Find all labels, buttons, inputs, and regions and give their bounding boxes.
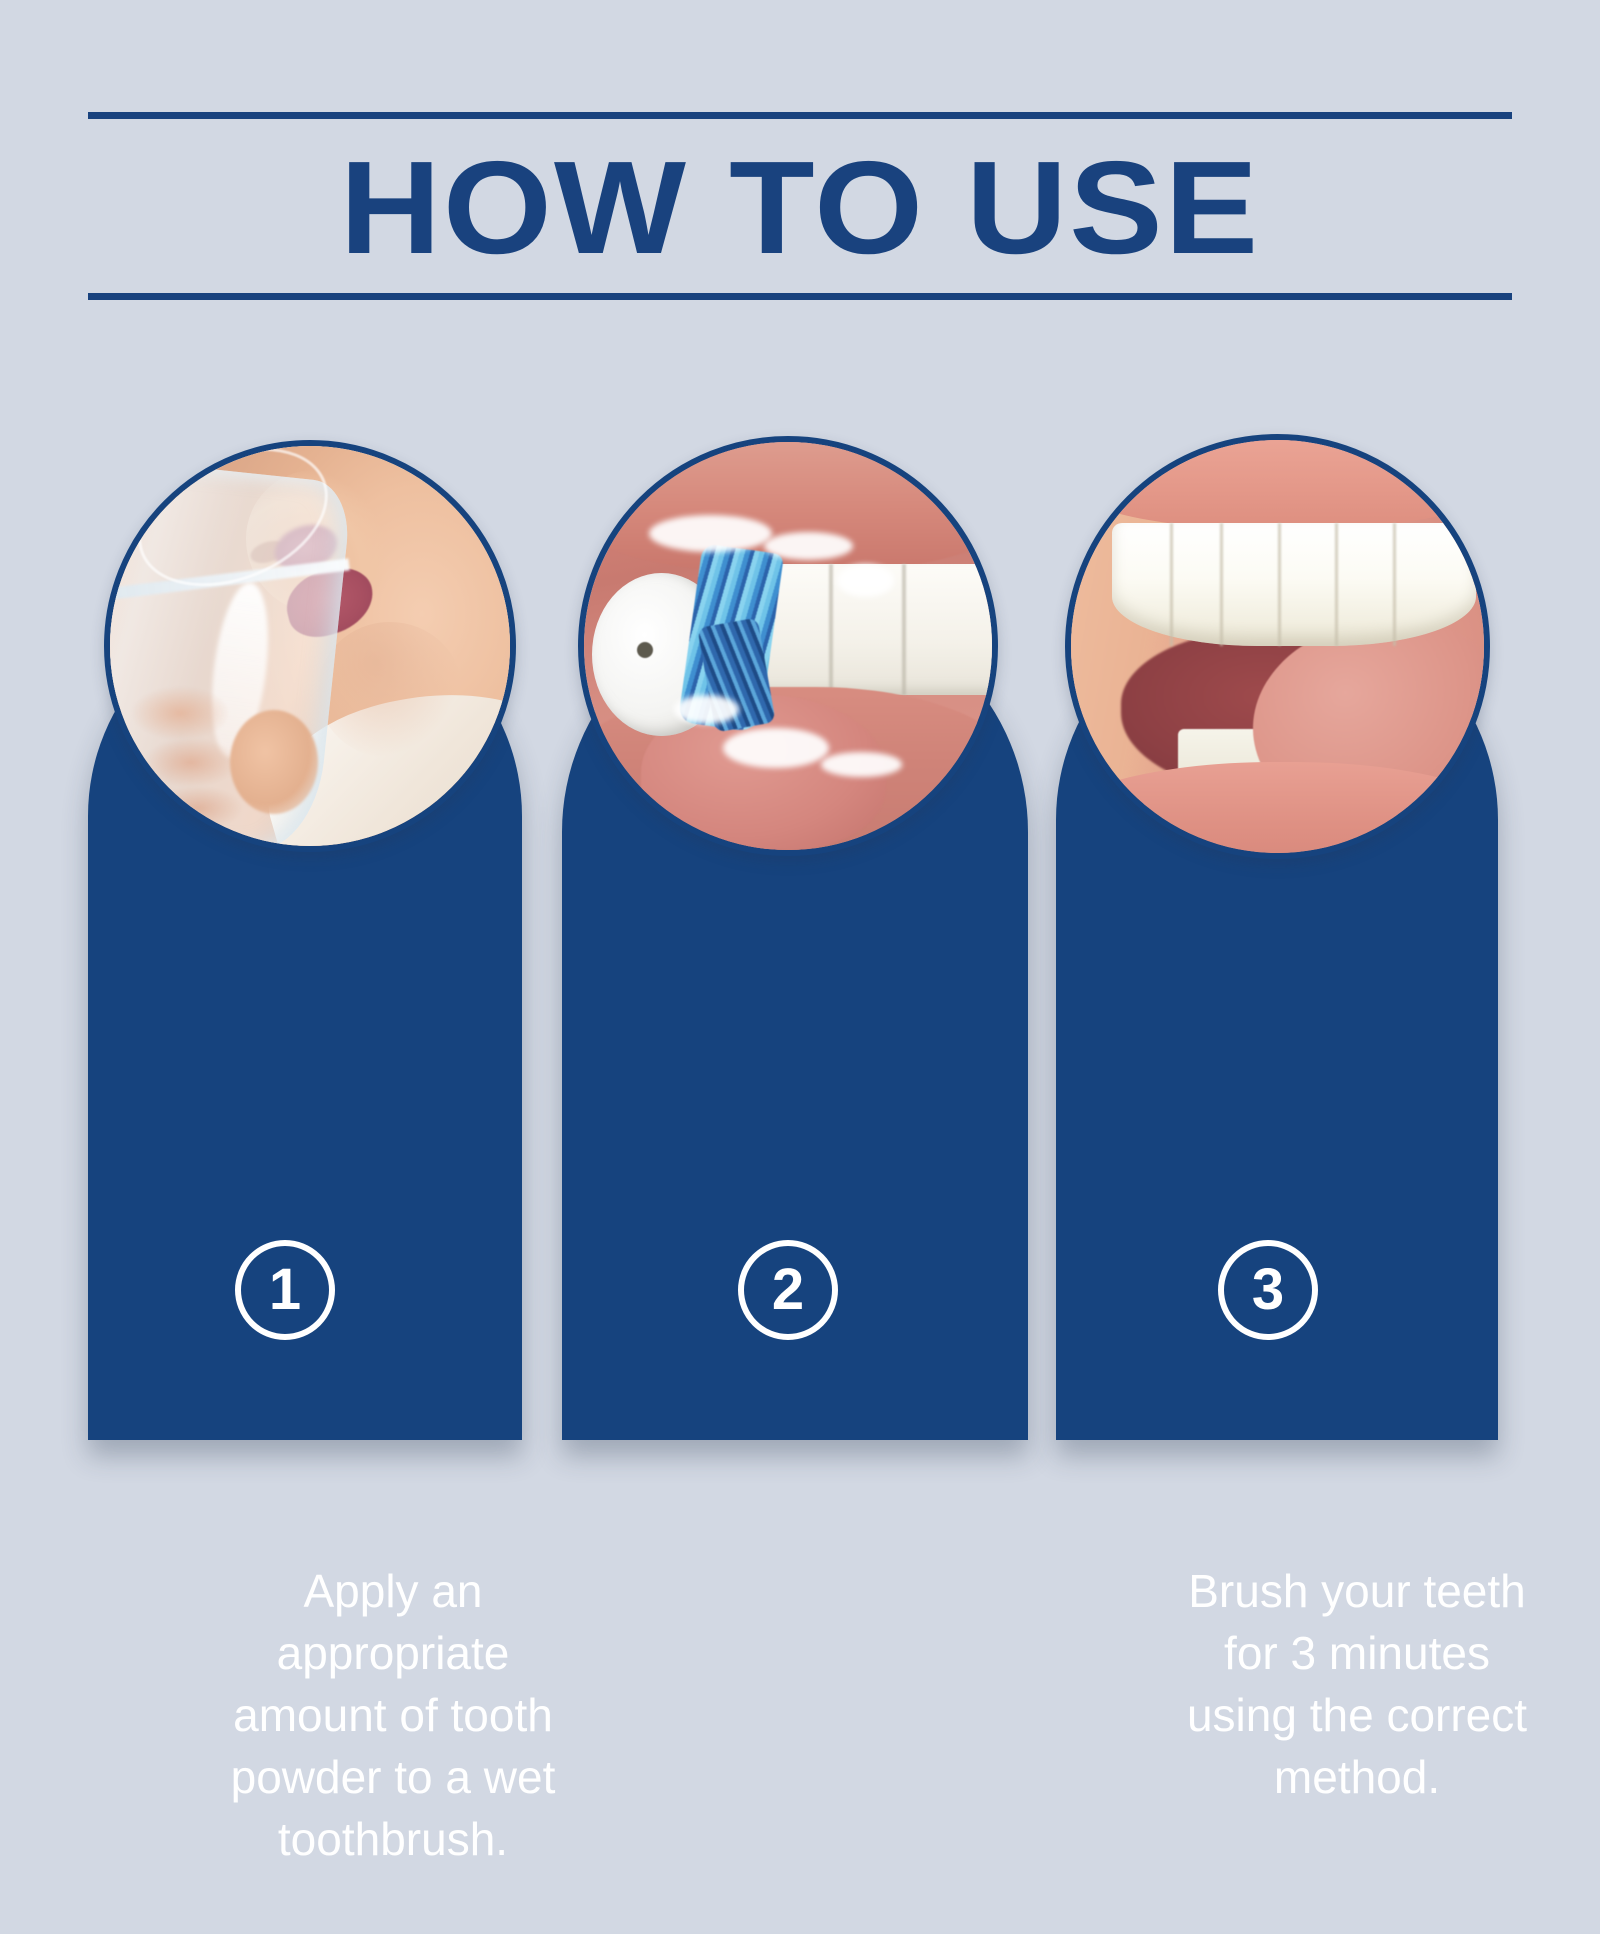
header: HOW TO USE [88,112,1512,300]
page-title: HOW TO USE [45,119,1554,293]
step-badge-1: 1 [235,1240,335,1340]
step-badge-3: 3 [1218,1240,1318,1340]
toothbrush-on-teeth-photo [578,436,998,856]
header-rule-top [88,112,1512,119]
open-mouth-teeth-photo [1065,434,1490,859]
steps-container: Apply an appropriate amount of tooth pow… [0,430,1600,1510]
woman-drinking-water-photo [104,440,516,852]
header-rule-bottom [88,293,1512,300]
step-caption-2: Brush your teeth for 3 minutes using the… [1122,1560,1592,1808]
step-caption-1: Apply an appropriate amount of tooth pow… [172,1560,614,1870]
step-badge-2: 2 [738,1240,838,1340]
